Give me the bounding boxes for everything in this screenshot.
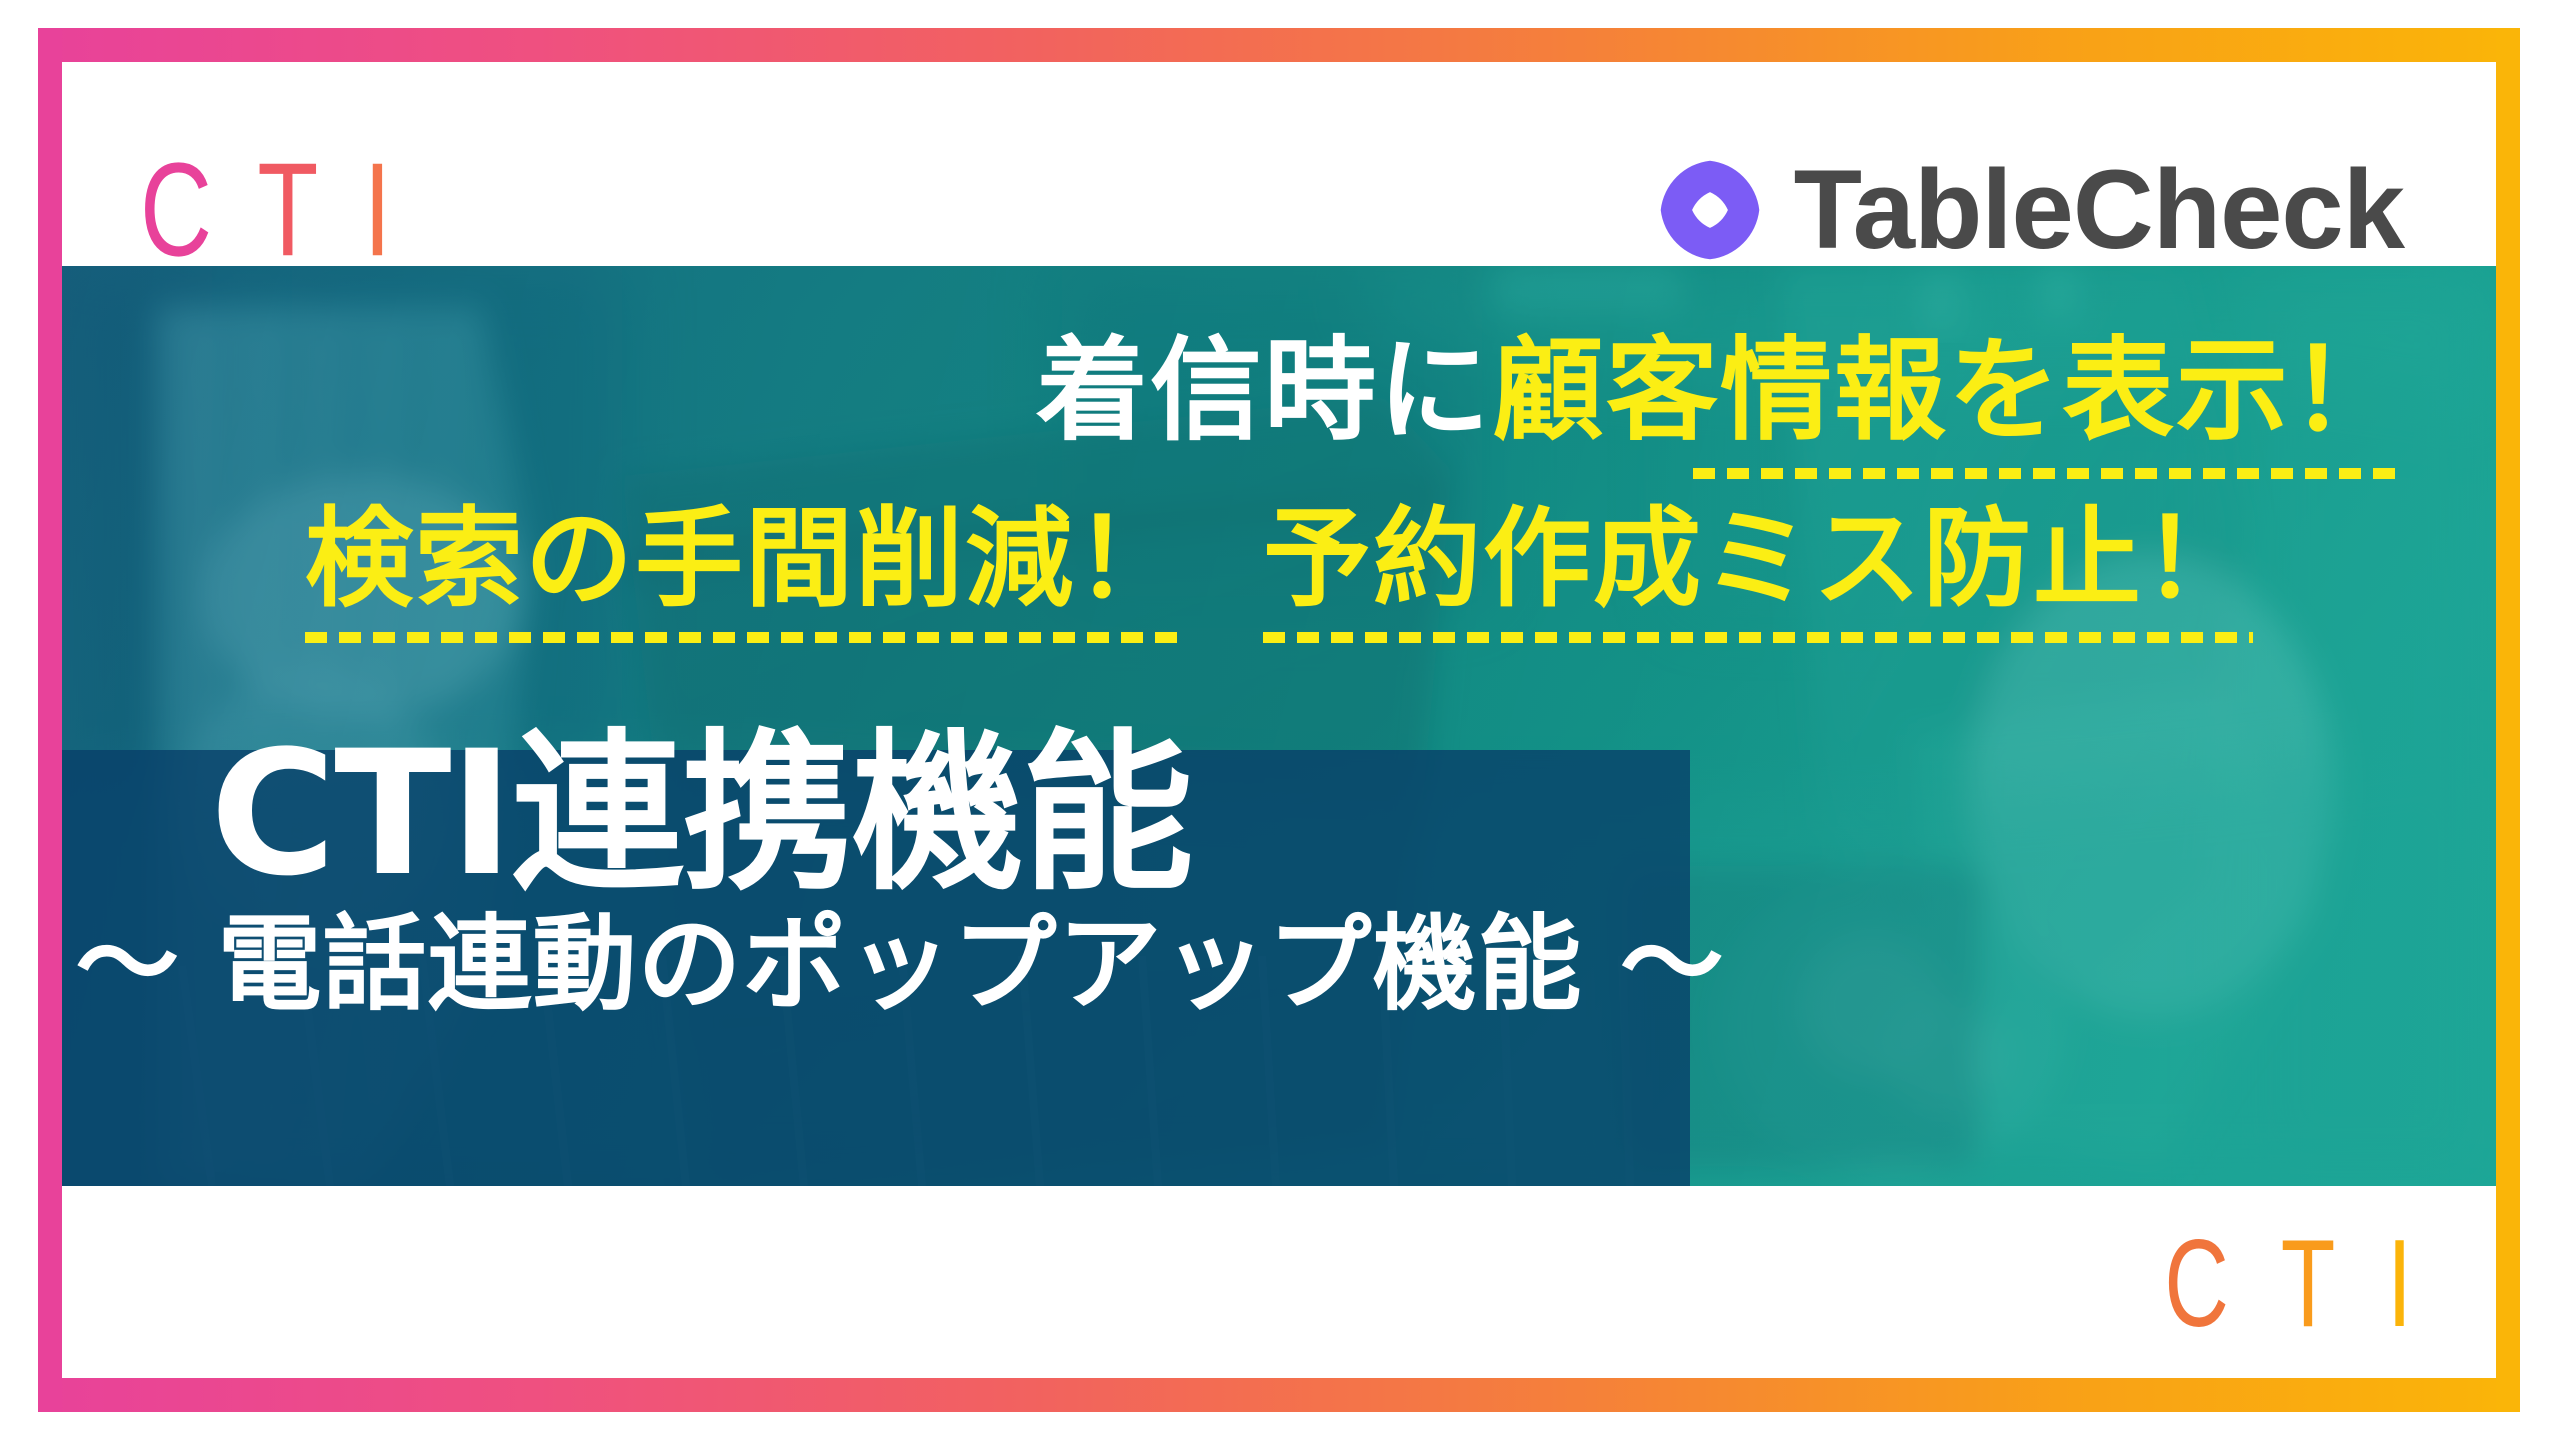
benefit-label: 予約作成ミス防止！	[1263, 498, 2253, 622]
cti-letter-i: I	[2387, 1215, 2464, 1353]
cti-letter-t: T	[257, 136, 363, 285]
headline-highlight: 顧客情報を表示！	[1492, 326, 2404, 456]
cti-letter-c: C	[140, 136, 257, 285]
cti-wordmark-bottom: CTI	[2165, 1222, 2464, 1346]
cti-letter-t: T	[2281, 1215, 2387, 1353]
tablecheck-wordmark: TableCheck	[1794, 154, 2404, 266]
frame-right-bar	[2496, 28, 2520, 1412]
benefit-dashed-underline	[305, 632, 1185, 643]
cti-wordmark-top: CTI	[140, 144, 437, 277]
footer-strip	[62, 1186, 2496, 1378]
slide-canvas: CTI TableCheck	[0, 0, 2560, 1440]
headline-dashed-underline	[1693, 468, 2404, 479]
benefits-row: 検索の手間削減！ 予約作成ミス防止！	[62, 498, 2496, 643]
headline-row: 着信時に顧客情報を表示！	[1036, 324, 2404, 479]
tablecheck-petal-logo-icon	[1654, 154, 1766, 266]
page-subtitle: 〜 電話連動のポップアップ機能 〜	[70, 912, 1730, 1016]
hero-text-layer: 着信時に顧客情報を表示！ 検索の手間削減！ 予約作成ミス防止！ CTI連携機能 …	[62, 266, 2496, 1186]
benefit-label: 検索の手間削減！	[305, 498, 1185, 622]
headline-plain: 着信時に	[1036, 326, 1492, 456]
benefit-item: 検索の手間削減！	[305, 498, 1185, 643]
frame-top-gradient	[38, 28, 2520, 62]
benefit-dashed-underline	[1263, 632, 2253, 643]
frame-bottom-gradient	[38, 1378, 2520, 1412]
page-title: CTI連携機能	[210, 728, 1192, 900]
cti-letter-i: I	[364, 136, 437, 285]
header-strip: CTI TableCheck	[62, 62, 2496, 266]
tablecheck-logo: TableCheck	[1654, 154, 2404, 266]
cti-letter-c: C	[2165, 1215, 2281, 1353]
frame-left-bar	[38, 28, 62, 1412]
benefit-item: 予約作成ミス防止！	[1263, 498, 2253, 643]
headline-text: 着信時に顧客情報を表示！	[1036, 324, 2404, 458]
